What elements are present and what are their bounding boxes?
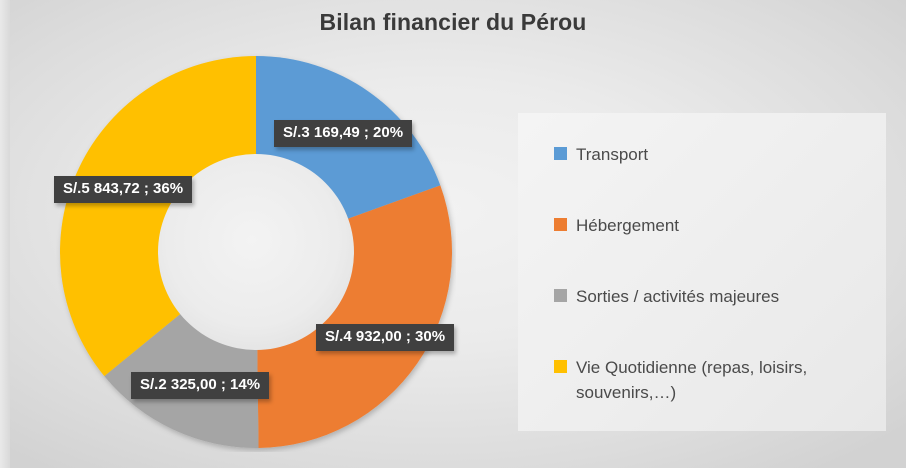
legend-item-hebergement[interactable]: Hébergement xyxy=(554,214,874,239)
data-label-hebergement: S/.4 932,00 ; 30% xyxy=(316,324,454,351)
legend-item-sorties[interactable]: Sorties / activités majeures xyxy=(554,285,874,310)
chart-title: Bilan financier du Pérou xyxy=(0,9,906,36)
data-label-sorties: S/.2 325,00 ; 14% xyxy=(131,372,269,399)
legend-color-swatch-hebergement xyxy=(554,218,567,231)
chart-legend: Transport Hébergement Sorties / activité… xyxy=(518,113,886,431)
legend-color-swatch-sorties xyxy=(554,289,567,302)
data-label-transport: S/.3 169,49 ; 20% xyxy=(274,120,412,147)
legend-item-vie-quotidienne[interactable]: Vie Quotidienne (repas, loisirs, souveni… xyxy=(554,356,874,405)
legend-item-label: Vie Quotidienne (repas, loisirs, souveni… xyxy=(576,356,856,405)
legend-color-swatch-vie-quotidienne xyxy=(554,360,567,373)
legend-item-label: Hébergement xyxy=(576,214,679,239)
chart-container: Bilan financier du Pérou S/.3 169,49 ; 2… xyxy=(0,0,906,468)
legend-color-swatch-transport xyxy=(554,147,567,160)
legend-item-label: Sorties / activités majeures xyxy=(576,285,779,310)
legend-item-label: Transport xyxy=(576,143,648,168)
data-label-vie-quotidienne: S/.5 843,72 ; 36% xyxy=(54,176,192,203)
legend-item-transport[interactable]: Transport xyxy=(554,143,874,168)
